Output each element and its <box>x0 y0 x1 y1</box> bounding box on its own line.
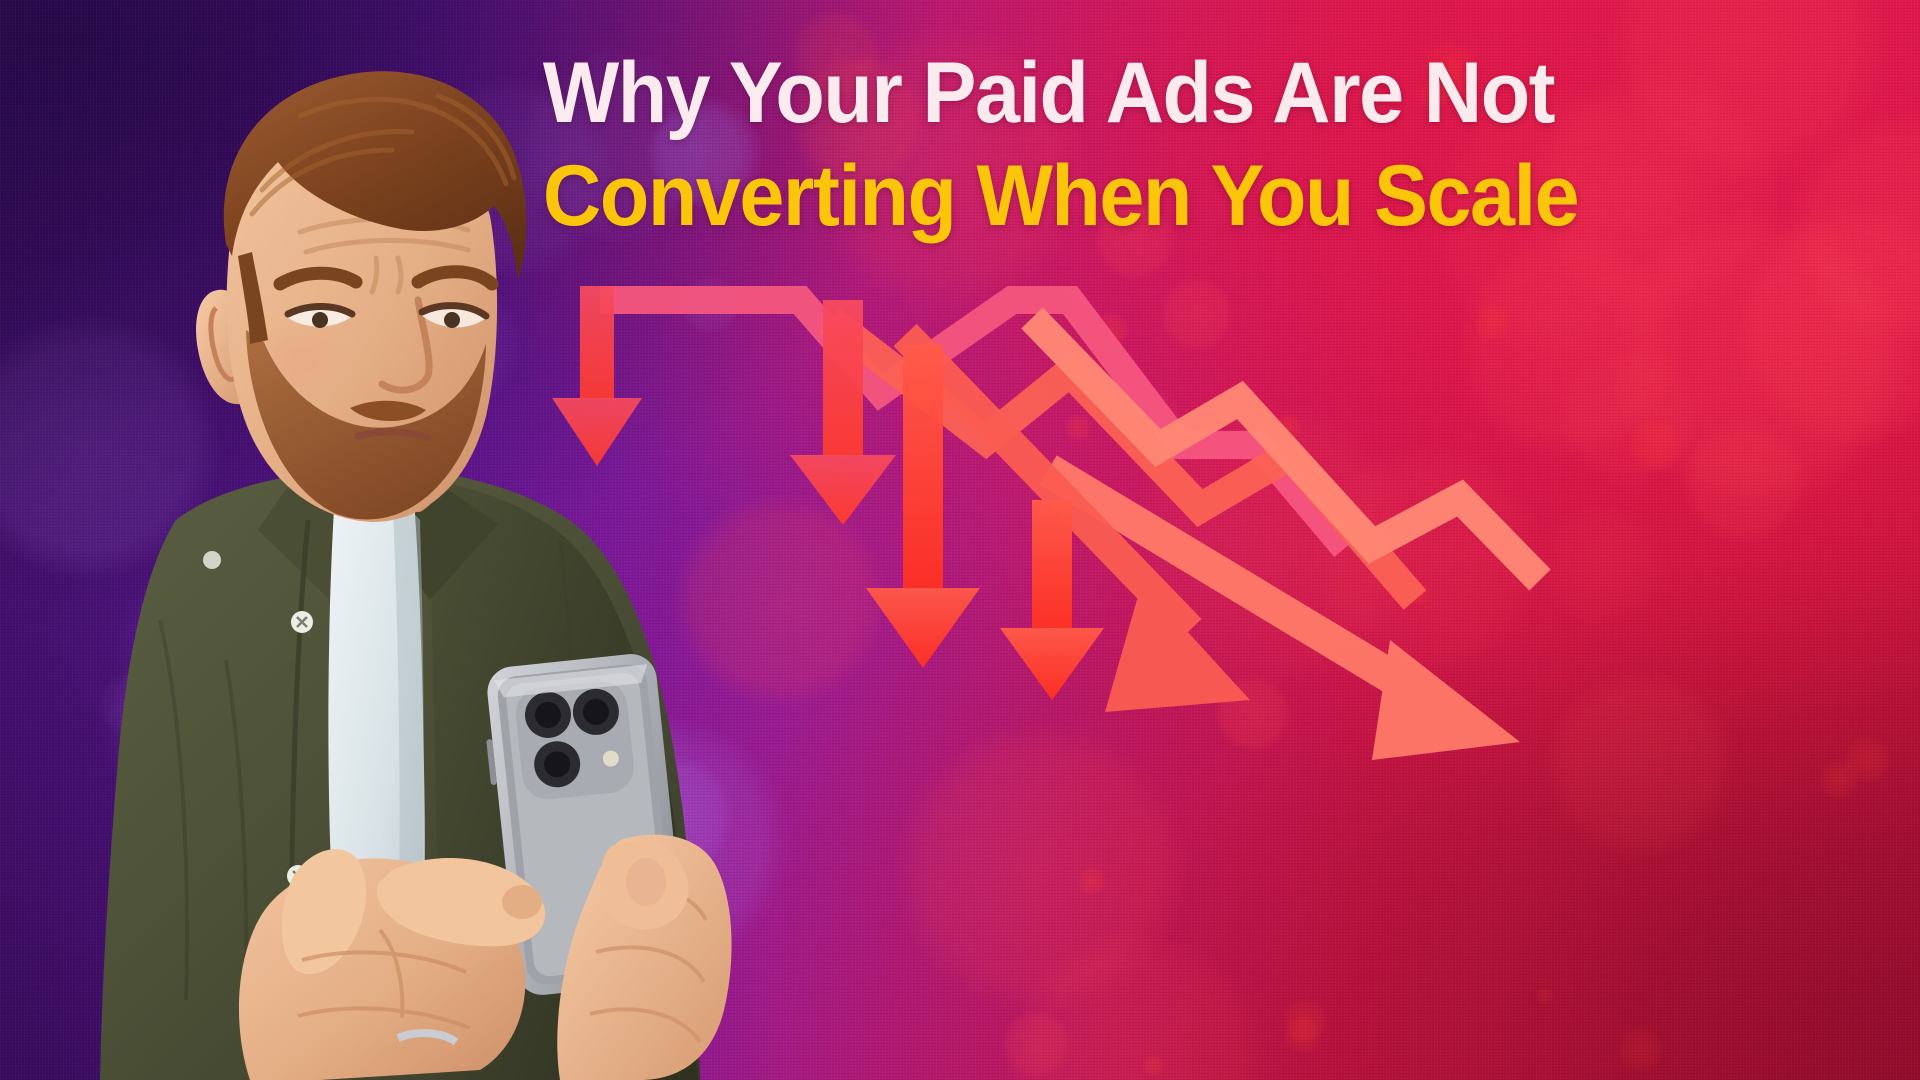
hero-banner: Why Your Paid Ads Are Not Converting Whe… <box>0 0 1920 1080</box>
head <box>196 71 526 522</box>
headline: Why Your Paid Ads Are Not Converting Whe… <box>512 48 1542 242</box>
camera-module <box>513 679 636 802</box>
thumbnail <box>626 858 666 906</box>
headline-line-1: Why Your Paid Ads Are Not <box>543 48 1511 139</box>
headline-line-2: Converting When You Scale <box>543 151 1511 242</box>
fingernail <box>502 885 542 919</box>
down-arrow-2 <box>790 300 896 525</box>
shirt-button <box>203 551 221 569</box>
shirt-button <box>291 611 313 633</box>
